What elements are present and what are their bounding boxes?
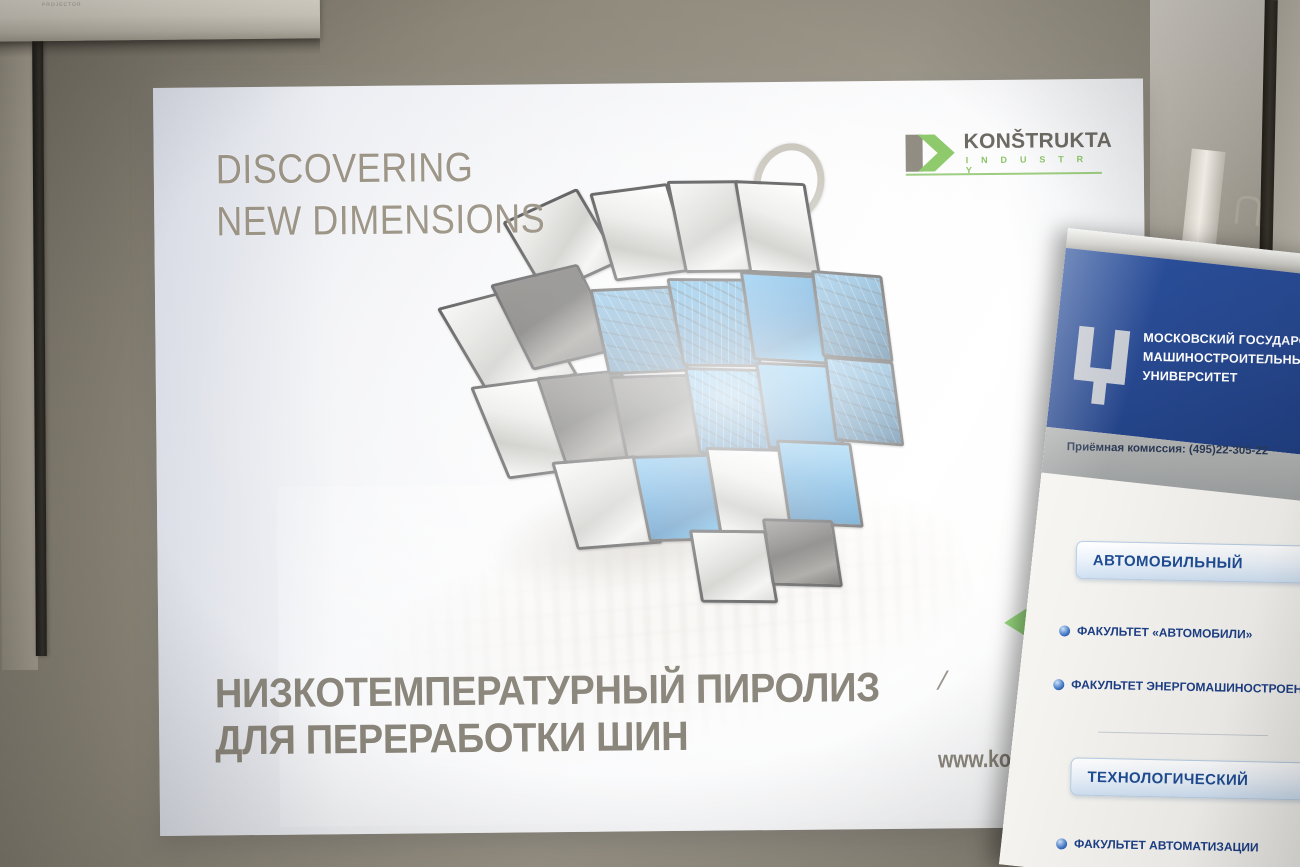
banner-hook-icon bbox=[1235, 195, 1262, 226]
banner-list-item: ФАКУЛЬТЕТ ЭНЕРГОМАШИНОСТРОЕНИЯ bbox=[1053, 677, 1300, 697]
banner-section-heading-1: ТЕХНОЛОГИЧЕСКИЙ bbox=[1070, 757, 1300, 801]
projection-room-scene: PROJECTOR bbox=[0, 0, 1300, 867]
banner-list-item-label: ФАКУЛЬТЕТ «АВТОМОБИЛИ» bbox=[1077, 624, 1253, 642]
banner-list-item-label: ФАКУЛЬТЕТ АВТОМАТИЗАЦИИ bbox=[1074, 837, 1259, 855]
bullet-dot-icon bbox=[1059, 625, 1070, 636]
banner-divider bbox=[1098, 732, 1268, 737]
banner-section-heading-0: АВТОМОБИЛЬНЫЙ bbox=[1075, 541, 1300, 585]
university-name: МОСКОВСКИЙ ГОСУДАРСТВЕННЫЙ МАШИНОСТРОИТЕ… bbox=[1142, 329, 1300, 390]
university-logo-icon bbox=[1071, 326, 1133, 409]
bullet-dot-icon bbox=[1053, 679, 1064, 690]
banner-list-item: ФАКУЛЬТЕТ «АВТОМОБИЛИ» bbox=[1059, 623, 1253, 641]
bullet-dot-icon bbox=[1056, 838, 1067, 849]
banner-list-item: ФАКУЛЬТЕТ АВТОМАТИЗАЦИИ bbox=[1056, 836, 1259, 854]
banner-list-item-label: ФАКУЛЬТЕТ ЭНЕРГОМАШИНОСТРОЕНИЯ bbox=[1071, 677, 1300, 696]
